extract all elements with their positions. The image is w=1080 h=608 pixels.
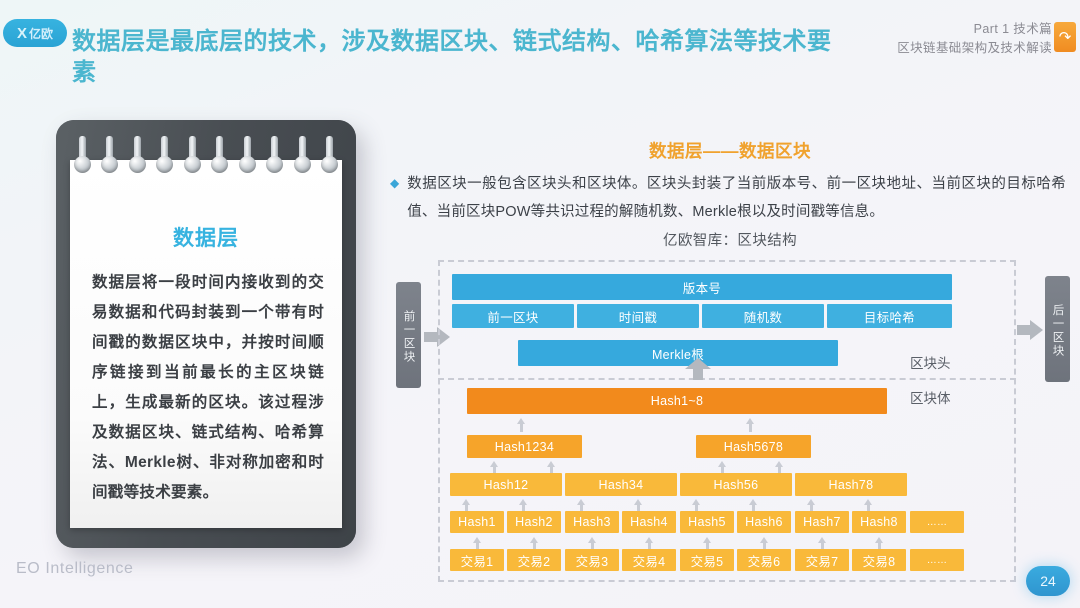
diamond-bullet-icon: ◆: [390, 170, 399, 226]
page-title: 数据层是最底层的技术，涉及数据区块、链式结构、哈希算法等技术要素: [72, 26, 852, 88]
diagram-title: 亿欧智库：区块结构: [395, 229, 1065, 250]
notepad: 数据层 数据层将一段时间内接收到的交易数据和代码封装到一个带有时间戳的数据区块中…: [56, 120, 356, 548]
part-line-2: 区块链基础架构及技术解读: [897, 39, 1052, 58]
bookmark-arrow-icon: ↷: [1054, 22, 1076, 52]
transaction-block: 交易3: [565, 549, 619, 571]
target-hash-field: 目标哈希: [827, 304, 952, 328]
transaction-block: 交易5: [680, 549, 734, 571]
transaction-block: 交易8: [852, 549, 906, 571]
spiral-ring-icon: [239, 136, 256, 176]
leaf-hash-ellipsis: ……: [910, 511, 964, 533]
spiral-ring-icon: [129, 136, 146, 176]
brand-watermark: EO Intelligence: [16, 560, 134, 578]
spiral-ring-icon: [211, 136, 228, 176]
merkle-root-block: Merkle根: [518, 340, 838, 366]
slide-root: Χ 亿欧 数据层是最底层的技术，涉及数据区块、链式结构、哈希算法等技术要素 Pa…: [0, 0, 1080, 608]
arrow-up-icon: [685, 358, 711, 380]
leaf-hash-block: Hash8: [852, 511, 906, 533]
prev-block-field: 前一区块: [452, 304, 574, 328]
notepad-text: 数据层将一段时间内接收到的交易数据和代码封装到一个带有时间戳的数据区块中，并按时…: [92, 268, 324, 508]
header-body-divider: [438, 378, 1016, 380]
logo-text: 亿欧: [29, 25, 53, 42]
next-block-label: 后一区块: [1045, 276, 1070, 382]
transaction-block: 交易1: [450, 549, 504, 571]
leaf-hash-block: Hash3: [565, 511, 619, 533]
leaf-hash-block: Hash4: [622, 511, 676, 533]
leaf-hash-block: Hash1: [450, 511, 504, 533]
notepad-paper: 数据层 数据层将一段时间内接收到的交易数据和代码封装到一个带有时间戳的数据区块中…: [70, 160, 342, 528]
notepad-body: 数据层 数据层将一段时间内接收到的交易数据和代码封装到一个带有时间戳的数据区块中…: [56, 120, 356, 548]
hash1234-block: Hash1234: [467, 435, 582, 458]
spiral-ring-icon: [266, 136, 283, 176]
transaction-ellipsis: ……: [910, 549, 964, 571]
page-number-badge: 24: [1026, 566, 1070, 596]
spiral-ring-icon: [101, 136, 118, 176]
transaction-block: 交易4: [622, 549, 676, 571]
spiral-ring-icon: [321, 136, 338, 176]
leaf-hash-block: Hash6: [737, 511, 791, 533]
transaction-block: 交易7: [795, 549, 849, 571]
tree-icon: Χ: [17, 26, 27, 41]
spiral-ring-icon: [74, 136, 91, 176]
timestamp-field: 时间戳: [577, 304, 699, 328]
notepad-title: 数据层: [70, 222, 342, 252]
yiou-logo: Χ 亿欧: [3, 19, 67, 47]
arrow-right-icon: [1017, 320, 1043, 340]
hash56-block: Hash56: [680, 473, 792, 496]
spiral-ring-icon: [294, 136, 311, 176]
block-header-label: 区块头: [910, 352, 951, 372]
block-structure-diagram: 前一区块 后一区块 区块头 区块体 版本号 前一区块 时间戳 随机数 目标哈希 …: [390, 252, 1070, 588]
leaf-hash-block: Hash5: [680, 511, 734, 533]
bullet-text: 数据区块一般包含区块头和区块体。区块头封装了当前版本号、前一区块地址、当前区块的…: [407, 170, 1066, 226]
prev-block-label: 前一区块: [396, 282, 421, 388]
version-block: 版本号: [452, 274, 952, 300]
leaf-hash-block: Hash2: [507, 511, 561, 533]
section-title: 数据层——数据区块: [395, 138, 1065, 163]
part-label: Part 1 技术篇 区块链基础架构及技术解读: [897, 20, 1052, 58]
block-body-label: 区块体: [910, 387, 951, 407]
transaction-block: 交易2: [507, 549, 561, 571]
hash5678-block: Hash5678: [696, 435, 811, 458]
nonce-field: 随机数: [702, 304, 824, 328]
spiral-binding: [74, 136, 338, 178]
transaction-block: 交易6: [737, 549, 791, 571]
spiral-ring-icon: [156, 136, 173, 176]
bullet-item: ◆ 数据区块一般包含区块头和区块体。区块头封装了当前版本号、前一区块地址、当前区…: [390, 170, 1066, 226]
hash-root-block: Hash1~8: [467, 388, 887, 414]
hash34-block: Hash34: [565, 473, 677, 496]
hash12-block: Hash12: [450, 473, 562, 496]
part-line-1: Part 1 技术篇: [897, 20, 1052, 39]
spiral-ring-icon: [184, 136, 201, 176]
arrow-up-icon: [517, 418, 526, 432]
hash78-block: Hash78: [795, 473, 907, 496]
arrow-up-icon: [746, 418, 755, 432]
leaf-hash-block: Hash7: [795, 511, 849, 533]
